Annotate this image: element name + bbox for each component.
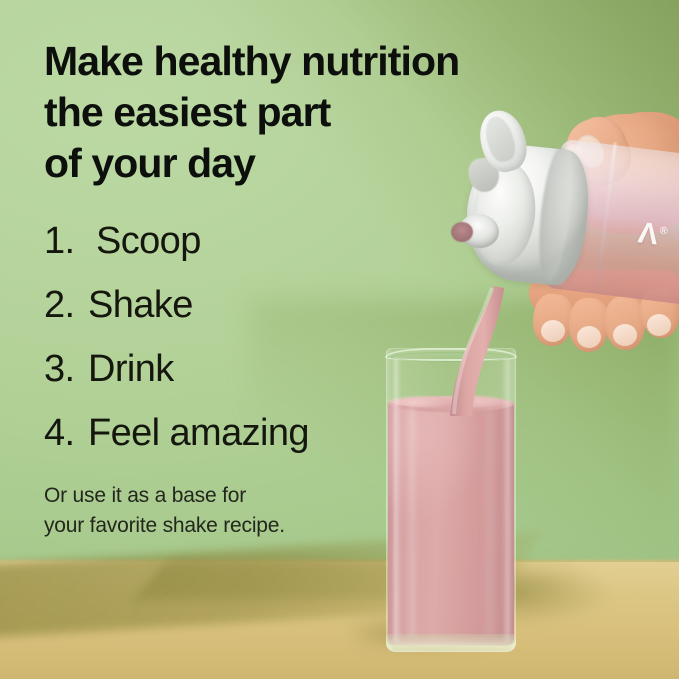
step-number: 4. xyxy=(44,401,88,465)
step-label: Shake xyxy=(88,273,193,337)
product-lifestyle-image: Make healthy nutrition the easiest part … xyxy=(0,0,679,679)
shaker-bottle: Λ® xyxy=(455,118,679,348)
smoothie-highlight-right xyxy=(482,410,498,636)
smoothie-highlight-left xyxy=(406,406,418,638)
step-label: Drink xyxy=(88,337,174,401)
glass-base xyxy=(386,634,516,652)
step-label: Scoop xyxy=(96,209,201,273)
step-number: 3. xyxy=(44,337,88,401)
glass-highlight-left xyxy=(394,358,401,642)
subtext: Or use it as a base for your favorite sh… xyxy=(44,481,604,541)
brand-logo: Λ® xyxy=(636,216,670,253)
list-item: 4. Feel amazing xyxy=(44,401,604,465)
step-number: 1. xyxy=(44,209,96,273)
step-number: 2. xyxy=(44,273,88,337)
step-label: Feel amazing xyxy=(88,401,309,465)
registered-mark-icon: ® xyxy=(659,225,670,238)
bottle-spout-opening xyxy=(451,222,473,242)
brand-logo-glyph: Λ xyxy=(636,216,661,251)
